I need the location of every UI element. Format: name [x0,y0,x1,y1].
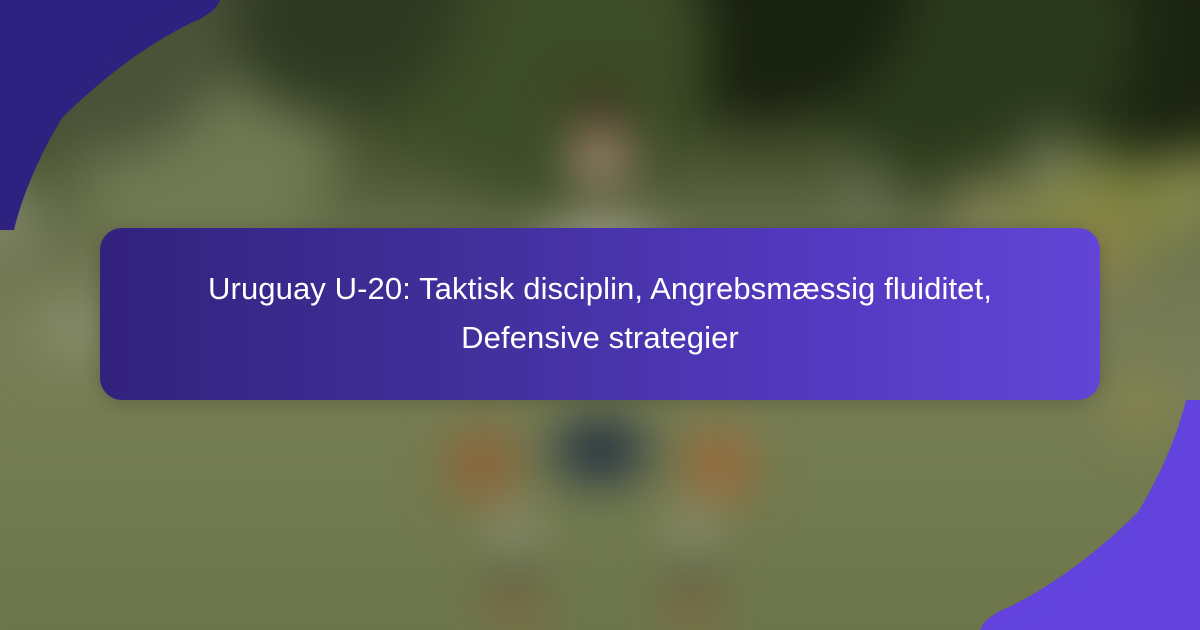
social-share-card: Uruguay U-20: Taktisk disciplin, Angrebs… [0,0,1200,630]
title-banner: Uruguay U-20: Taktisk disciplin, Angrebs… [100,228,1100,400]
page-title: Uruguay U-20: Taktisk disciplin, Angrebs… [176,265,1024,363]
